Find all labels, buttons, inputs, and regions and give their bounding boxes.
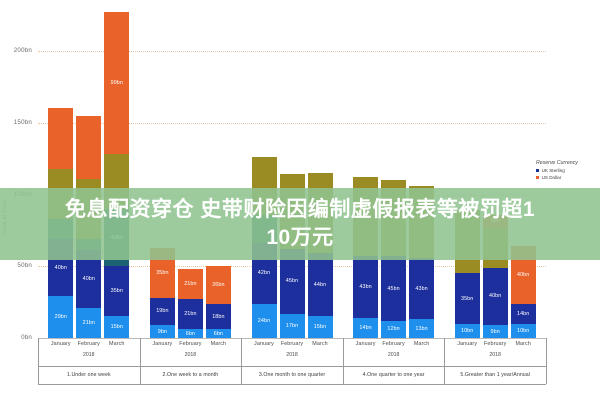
bar-segment-label: 21bn: [83, 320, 95, 326]
bar-segment[interactable]: 10bn: [455, 324, 480, 338]
group-bracket-bottom: [241, 384, 343, 385]
bar-segment[interactable]: 40bn: [483, 268, 508, 325]
bar-segment[interactable]: 13bn: [409, 319, 434, 338]
group-bracket-bottom: [343, 384, 445, 385]
bar-segment-label: 43bn: [359, 284, 371, 290]
x-axis-month-label: March: [304, 341, 337, 347]
x-axis-line: [38, 338, 546, 339]
bar-segment-label: 35bn: [461, 296, 473, 302]
bar-segment-label: 9bn: [491, 329, 500, 335]
x-axis-month-label: March: [405, 341, 438, 347]
bar-segment[interactable]: 29bn: [48, 296, 73, 338]
bar-segment-label: 43bn: [415, 286, 427, 292]
x-axis-month-label: March: [507, 341, 540, 347]
bar-segment-label: 29bn: [55, 314, 67, 320]
bar-segment-label: 9bn: [158, 329, 167, 335]
bar-segment-label: 40bn: [83, 276, 95, 282]
bar-segment-label: 99bn: [111, 80, 123, 86]
legend-title: Reserve Currency: [536, 160, 578, 166]
bar-segment[interactable]: 99bn: [104, 12, 129, 154]
bar-segment[interactable]: 43bn: [353, 256, 378, 318]
bar-segment[interactable]: 15bn: [104, 316, 129, 338]
bar[interactable]: 6bn21bn21bn: [178, 269, 203, 338]
x-axis-group-label: 4.One quarter to one year: [343, 372, 445, 378]
group-bracket-top: [241, 366, 343, 367]
bar-segment-label: 14bn: [517, 311, 529, 317]
legend-item[interactable]: UK Sterling: [536, 168, 578, 173]
bar-segment-label: 26bn: [212, 282, 224, 288]
bar-segment[interactable]: 21bn: [76, 308, 101, 338]
bar-segment[interactable]: 10bn: [511, 324, 536, 338]
bar-segment[interactable]: 9bn: [150, 325, 175, 338]
bar-segment-label: 24bn: [258, 318, 270, 324]
bar-segment[interactable]: 18bn: [206, 304, 231, 330]
group-tick: [444, 338, 445, 368]
group-tick: [140, 338, 141, 368]
x-axis-group-label: 2.One week to a month: [140, 372, 242, 378]
bar-segment-label: 6bn: [214, 331, 223, 337]
bar-segment-label: 15bn: [314, 324, 326, 330]
group-bracket-bottom: [140, 384, 242, 385]
legend-swatch-icon: [536, 169, 539, 172]
x-axis-year-label: 2018: [38, 352, 140, 358]
bar-segment-label: 6bn: [186, 331, 195, 337]
bar-segment[interactable]: [48, 108, 73, 168]
group-tick: [546, 338, 547, 368]
overlay-banner: [0, 188, 600, 260]
x-axis-group-label: 3.One month to one quarter: [241, 372, 343, 378]
bar-segment[interactable]: 14bn: [353, 318, 378, 338]
bar-segment-label: 10bn: [461, 328, 473, 334]
legend-swatch-icon: [536, 176, 539, 179]
bar-segment[interactable]: 44bn: [308, 253, 333, 316]
bar-segment[interactable]: 9bn: [483, 325, 508, 338]
bar-segment-label: 10bn: [517, 328, 529, 334]
group-tick: [38, 338, 39, 368]
bar-segment[interactable]: 6bn: [178, 329, 203, 338]
bar-segment-label: 40bn: [55, 265, 67, 271]
group-bracket-bottom: [444, 384, 546, 385]
bar-segment[interactable]: [76, 116, 101, 179]
bar-segment[interactable]: 35bn: [104, 266, 129, 316]
bar-segment-label: 13bn: [415, 326, 427, 332]
bar-segment-label: 21bn: [184, 281, 196, 287]
bar-segment[interactable]: 14bn: [511, 304, 536, 324]
legend-item[interactable]: US Dollar: [536, 175, 578, 180]
y-axis-tick-label: 200bn: [0, 47, 32, 54]
bar[interactable]: 9bn19bn35bn: [150, 248, 175, 338]
group-bracket-top: [343, 366, 445, 367]
bar-segment-label: 45bn: [286, 278, 298, 284]
bar-segment[interactable]: 17bn: [280, 314, 305, 338]
x-axis-year-label: 2018: [343, 352, 445, 358]
bars-layer: 29bn40bn21bn40bn15bn35bn40bn99bn9bn19bn3…: [38, 8, 588, 338]
bar-segment-label: 19bn: [156, 308, 168, 314]
x-axis-month-label: March: [100, 341, 133, 347]
bar-segment-label: 15bn: [111, 324, 123, 330]
bar-segment[interactable]: 43bn: [409, 258, 434, 320]
legend-item-label: US Dollar: [542, 175, 562, 180]
bar-segment[interactable]: 35bn: [455, 273, 480, 323]
legend-item-label: UK Sterling: [542, 168, 565, 173]
x-axis-month-label: March: [202, 341, 235, 347]
group-tick: [343, 338, 344, 368]
bar-segment-label: 35bn: [156, 270, 168, 276]
x-axis-year-label: 2018: [140, 352, 242, 358]
bar-segment-label: 18bn: [212, 314, 224, 320]
bar-segment[interactable]: 21bn: [178, 299, 203, 329]
legend: Reserve Currency UK SterlingUS Dollar: [536, 160, 578, 182]
x-axis-group-label: 1.Under one week: [38, 372, 140, 378]
bar-segment[interactable]: 6bn: [206, 329, 231, 338]
x-axis-group-label: 5.Greater than 1 year/Annual: [444, 372, 546, 378]
x-axis-year-label: 2018: [241, 352, 343, 358]
bar-segment[interactable]: 24bn: [252, 304, 277, 338]
bar-segment-label: 21bn: [184, 311, 196, 317]
bar-segment-label: 17bn: [286, 323, 298, 329]
group-bracket-top: [444, 366, 546, 367]
bar-segment-label: 35bn: [111, 288, 123, 294]
bar-segment-label: 45bn: [387, 286, 399, 292]
bar-segment-label: 40bn: [489, 293, 501, 299]
bar-segment-label: 40bn: [517, 272, 529, 278]
bar-segment-label: 42bn: [258, 270, 270, 276]
bar-segment-label: 12bn: [387, 326, 399, 332]
y-axis-tick-label: 50bn: [0, 262, 32, 269]
y-axis-tick-label: 150bn: [0, 119, 32, 126]
bar-segment[interactable]: 19bn: [150, 298, 175, 325]
bar-segment[interactable]: 12bn: [381, 321, 406, 338]
bar-segment[interactable]: 45bn: [381, 256, 406, 321]
legend-items: UK SterlingUS Dollar: [536, 168, 578, 180]
x-axis-year-label: 2018: [444, 352, 546, 358]
bar-segment-label: 44bn: [314, 282, 326, 288]
bar[interactable]: 15bn35bn40bn99bn: [104, 12, 129, 338]
group-bracket-top: [38, 366, 140, 367]
chart-root: 0bn50bn100bn150bn200bnValue of Cash 29bn…: [0, 0, 600, 400]
bar[interactable]: 6bn18bn26bn: [206, 266, 231, 338]
group-bracket-top: [140, 366, 242, 367]
group-separator: [546, 366, 547, 384]
bar-segment[interactable]: 26bn: [206, 266, 231, 303]
group-bracket-bottom: [38, 384, 140, 385]
bar-segment[interactable]: 21bn: [178, 269, 203, 299]
bar-segment[interactable]: 15bn: [308, 316, 333, 338]
y-axis-tick-label: 0bn: [0, 334, 32, 341]
group-tick: [241, 338, 242, 368]
bar-segment-label: 14bn: [359, 325, 371, 331]
